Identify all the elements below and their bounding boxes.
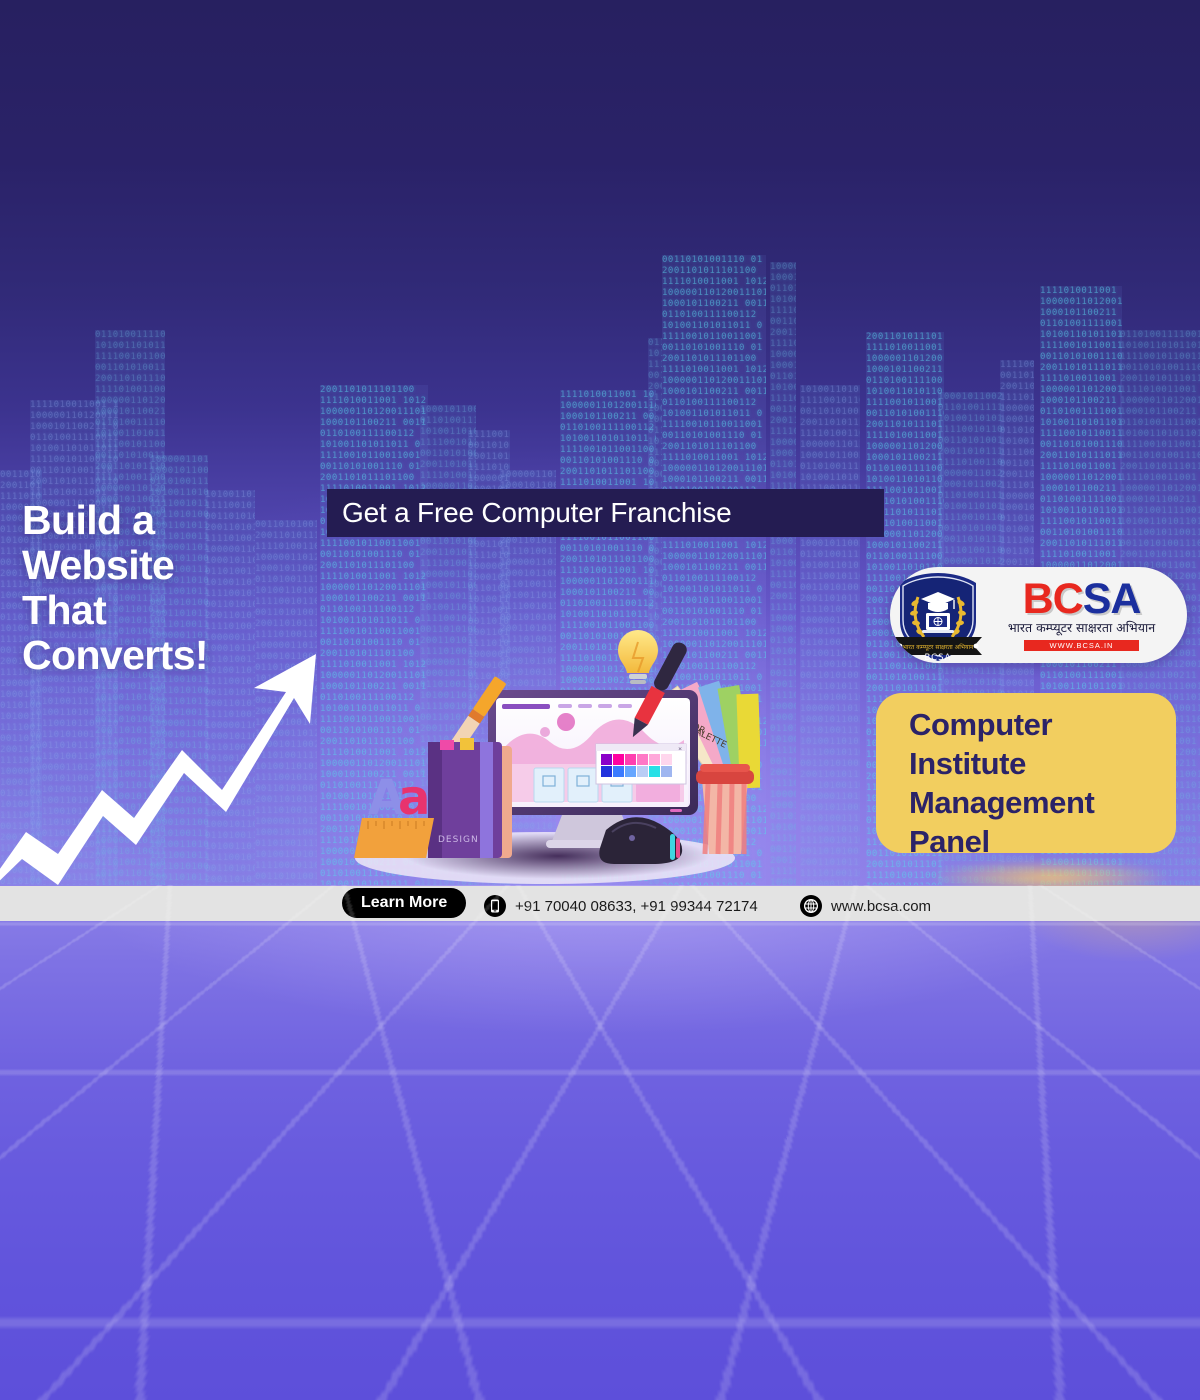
bcsa-wordmark-block: BCSA भारत कम्प्यूटर साक्षरता अभियान WWW.…	[986, 577, 1187, 653]
bcsa-wordmark: BCSA	[986, 577, 1177, 621]
page-title: Build a Website That Converts!	[22, 498, 208, 678]
phone-number-text: +91 70040 08633, +91 99344 72174	[515, 898, 758, 915]
svg-text:a: a	[398, 770, 430, 826]
product-name-panel: Computer Institute Management Panel	[876, 693, 1176, 853]
learn-more-button[interactable]: Learn More	[342, 888, 466, 918]
svg-text:BCSA: BCSA	[925, 653, 952, 663]
monitor: ✕	[488, 690, 698, 848]
globe-icon	[800, 895, 822, 917]
bcsa-url-chip: WWW.BCSA.IN	[1024, 640, 1140, 651]
headline-line-1: Build a	[22, 498, 208, 543]
phone-contact[interactable]: +91 70040 08633, +91 99344 72174	[484, 895, 758, 917]
lightbulb-icon	[618, 630, 658, 684]
headline-line-4: Converts!	[22, 633, 208, 678]
laptop-icon	[922, 613, 954, 633]
bcsa-logo[interactable]: भारत कम्प्यूटर साक्षरता अभियान BCSA BCSA…	[890, 567, 1187, 663]
offer-banner: Get a Free Computer Franchise	[327, 489, 884, 537]
design-notebook: DESIGN	[428, 738, 512, 858]
headline-line-2: Website	[22, 543, 208, 588]
headline-line-3: That	[22, 588, 208, 633]
panel-line-1: Computer	[909, 705, 1176, 744]
banner-canvas: 1111010011001 1012 100000110120011101 10…	[0, 0, 1200, 1400]
svg-text:भारत कम्प्यूटर साक्षरता अभियान: भारत कम्प्यूटर साक्षरता अभियान	[903, 643, 974, 651]
web-design-illustration: COLOR PALETTE	[340, 618, 760, 890]
panel-line-2: Institute	[909, 744, 1176, 783]
ruler	[354, 818, 434, 858]
bcsa-shield-emblem: भारत कम्प्यूटर साक्षरता अभियान BCSA	[890, 567, 986, 663]
bcsa-hindi-tagline: भारत कम्प्यूटर साक्षरता अभियान	[986, 620, 1177, 635]
hexagon-floor	[0, 885, 1200, 1400]
swatch-popup-window: ✕	[596, 744, 686, 784]
panel-line-4: Panel	[909, 822, 1176, 861]
panel-line-3: Management	[909, 783, 1176, 822]
svg-text:✕: ✕	[678, 747, 682, 753]
website-contact[interactable]: www.bcsa.com	[800, 895, 931, 917]
code-building: 101001101011011 0 11110010110011001 0011…	[800, 385, 860, 890]
svg-text:DESIGN: DESIGN	[438, 835, 479, 845]
website-url-text: www.bcsa.com	[831, 898, 931, 915]
coffee-cup	[696, 764, 754, 854]
offer-banner-text: Get a Free Computer Franchise	[342, 497, 731, 529]
mobile-phone-icon	[484, 895, 506, 917]
code-building: 100000110120011101 1000101100211 0011 01…	[770, 262, 796, 890]
typography-letters: A a	[368, 770, 430, 826]
